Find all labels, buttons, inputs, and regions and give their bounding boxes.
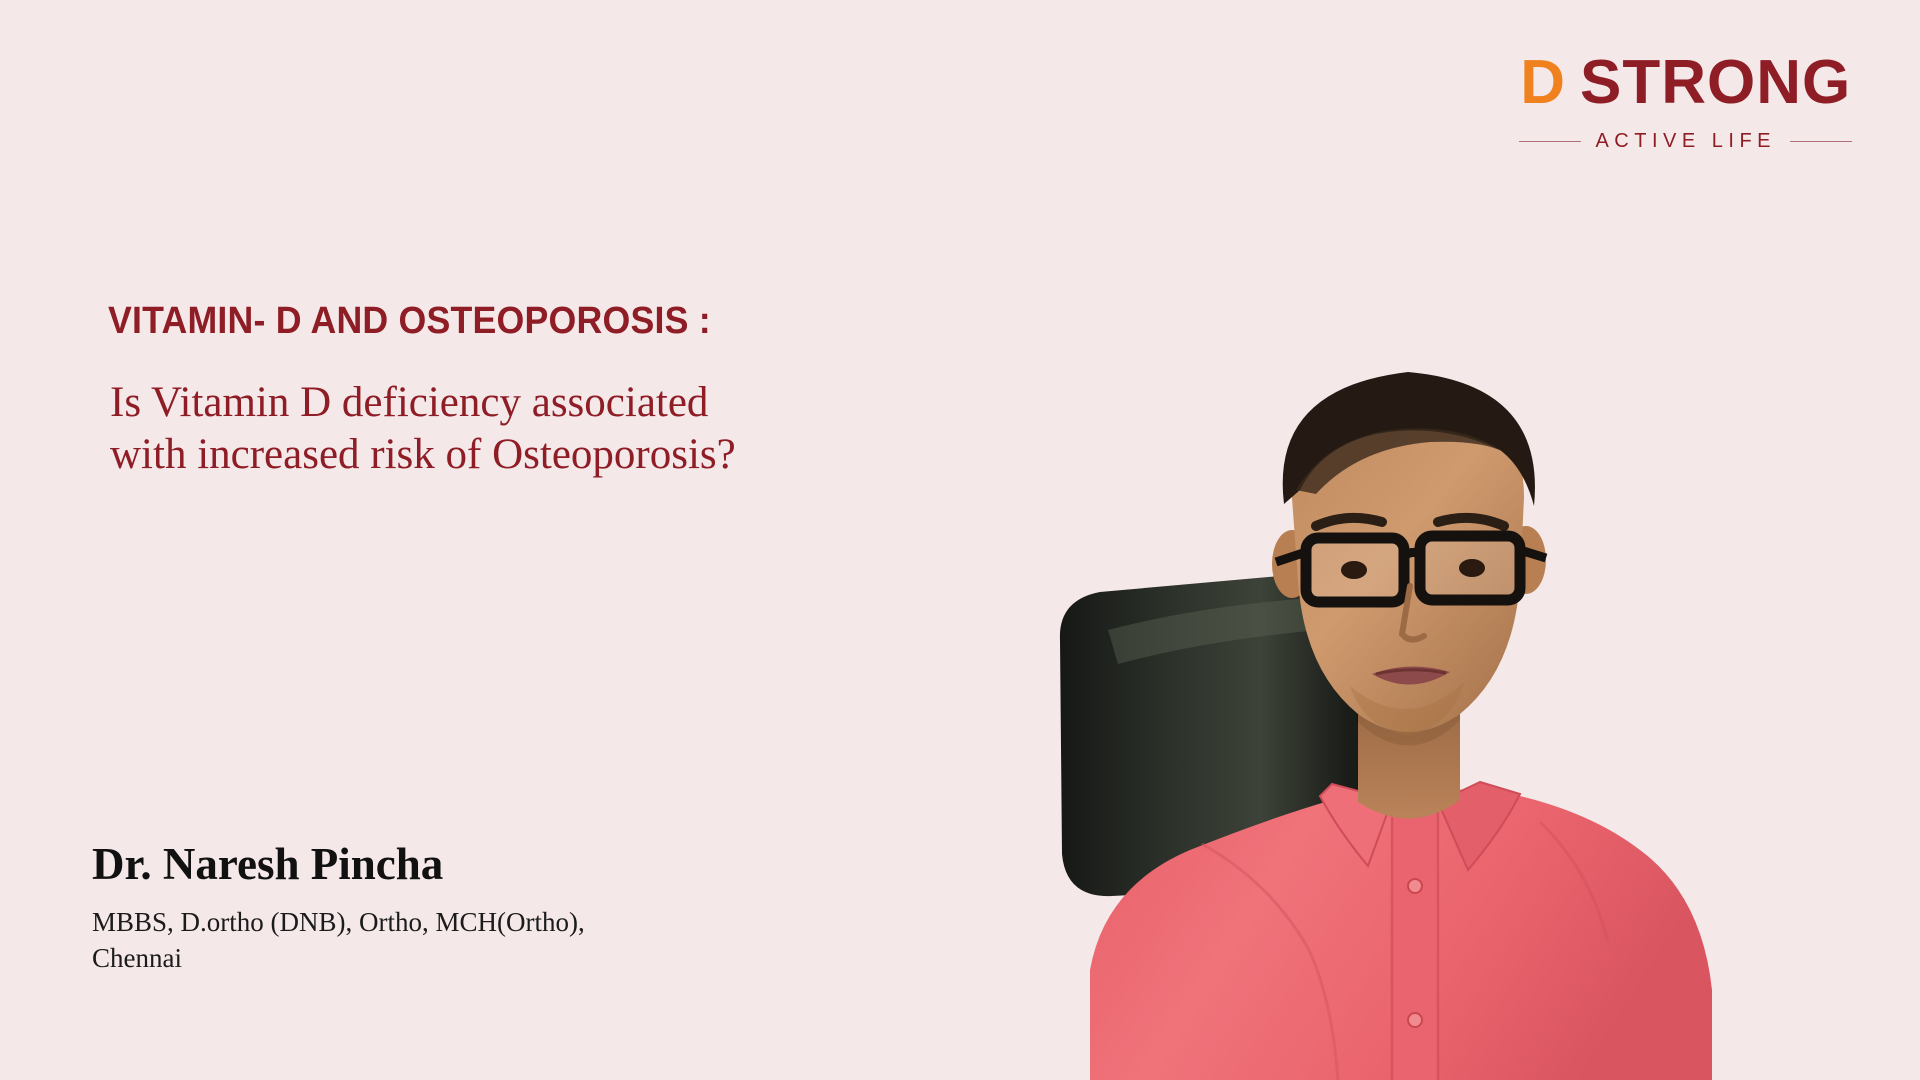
speaker-portrait-photo	[940, 330, 1740, 1080]
slide-subheadline: Is Vitamin D deficiency associated with …	[110, 377, 736, 482]
speaker-credentials: MBBS, D.ortho (DNB), Ortho, MCH(Ortho), …	[92, 904, 585, 976]
speaker-credit: Dr. Naresh Pincha MBBS, D.ortho (DNB), O…	[92, 840, 585, 976]
logo-strong-text: STRONG	[1580, 48, 1851, 117]
logo-tagline-row: ACTIVE LIFE	[1519, 130, 1852, 153]
logo-d-mark-icon: D	[1520, 48, 1566, 117]
slide-headline: VITAMIN- D AND OSTEOPOROSIS :	[108, 300, 711, 343]
presentation-slide: DSTRONG ACTIVE LIFE VITAMIN- D AND OSTEO…	[0, 0, 1920, 1080]
logo-rule-right-icon	[1790, 141, 1852, 142]
logo-wordmark: DSTRONG	[1519, 52, 1852, 114]
logo-tagline-text: ACTIVE LIFE	[1595, 130, 1776, 153]
speaker-name: Dr. Naresh Pincha	[92, 840, 585, 890]
brand-logo: DSTRONG ACTIVE LIFE	[1519, 52, 1852, 153]
logo-rule-left-icon	[1519, 141, 1581, 142]
